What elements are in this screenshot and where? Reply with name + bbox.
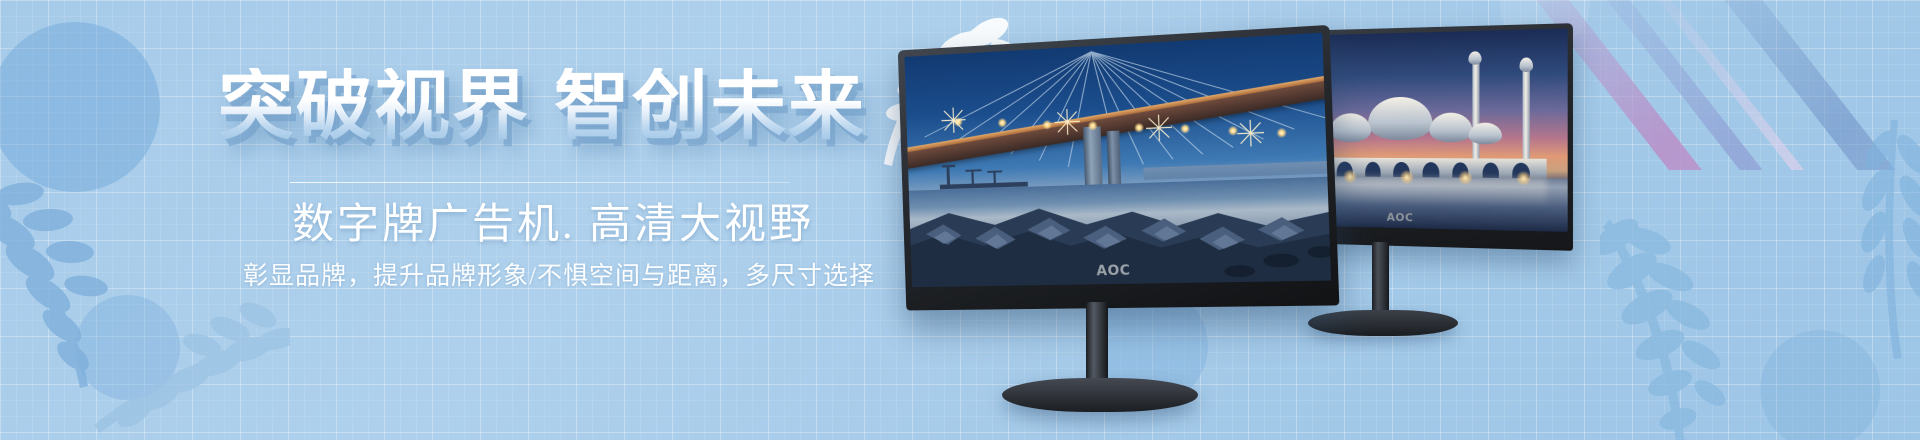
aoc-logo-back: AOC xyxy=(1387,211,1414,225)
banner-subtitle: 数字牌广告机. 高清大视野 xyxy=(292,190,814,251)
aoc-logo-front: AOC xyxy=(1096,263,1130,280)
product-monitors: AOC xyxy=(880,0,1920,440)
back-monitor-stand-neck xyxy=(1372,242,1389,314)
front-monitor-stand-base xyxy=(1002,378,1198,412)
front-monitor-stand-neck xyxy=(1086,302,1108,388)
front-monitor: AOC xyxy=(890,38,1350,418)
bridge-sunset-photo xyxy=(904,33,1331,288)
banner-tagline: 彰显品牌，提升品牌形象/不惧空间与距离，多尺寸选择 xyxy=(243,256,875,292)
banner-text-block: 突破视界智创未来 数字牌广告机. 高清大视野 彰显品牌，提升品牌形象/不惧空间与… xyxy=(0,0,900,440)
divider-rule xyxy=(290,182,790,183)
front-monitor-bezel: AOC xyxy=(898,25,1340,311)
headline-part-2: 智创未来 xyxy=(554,61,866,150)
banner-headline: 突破视界智创未来 xyxy=(218,68,866,144)
front-monitor-screen: AOC xyxy=(904,33,1331,288)
headline-part-1: 突破视界 xyxy=(218,61,530,150)
promo-banner: 突破视界智创未来 数字牌广告机. 高清大视野 彰显品牌，提升品牌形象/不惧空间与… xyxy=(0,0,1920,440)
